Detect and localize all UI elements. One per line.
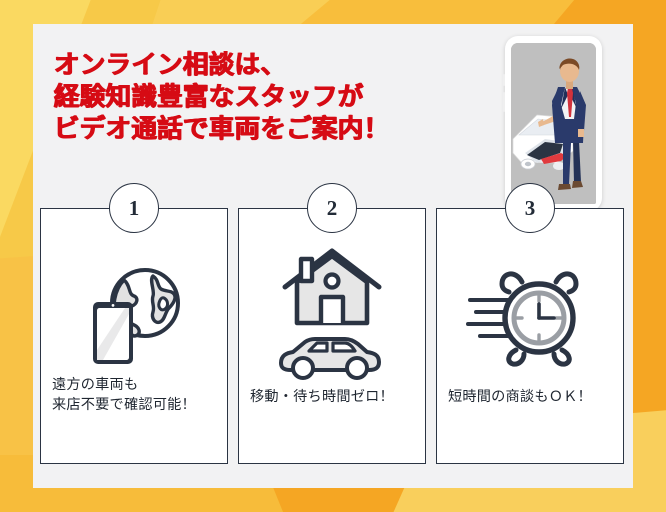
headline-line-1: オンライン相談は、 [54,49,494,81]
page-title: オンライン相談は、 経験知識豊富なスタッフが ビデオ通話で車両をご案内！ [54,49,494,145]
card-badge-number: 1 [109,183,159,233]
phone-power-button [503,92,505,112]
caption-line-1: 短時間の商談もＯＫ！ [448,387,615,407]
card-caption: 遠方の車両も 来店不要で確認可能！ [52,376,219,415]
card-badge-number: 3 [505,183,555,233]
alarm-clock-speed-icon [437,251,623,381]
card-caption: 短時間の商談もＯＫ！ [448,387,615,407]
salesman-with-car-illustration [511,43,596,204]
caption-line-2: 来店不要で確認可能！ [52,396,219,416]
car-icon [281,339,379,378]
feature-card-3: 3 [436,208,624,464]
house-car-icon [239,237,425,387]
feature-card-1: 1 遠方の車両も 来店不要で確認可能！ [40,208,228,464]
phone-volume-button [503,74,505,86]
phone-screen [511,43,596,204]
content-panel: オンライン相談は、 経験知識豊富なスタッフが ビデオ通話で車両をご案内！ [33,24,633,488]
globe-smartphone-icon [41,243,227,383]
promo-banner: オンライン相談は、 経験知識豊富なスタッフが ビデオ通話で車両をご案内！ [0,0,666,512]
card-badge-number: 2 [307,183,357,233]
headline-line-3: ビデオ通話で車両をご案内！ [54,113,494,145]
house-icon [285,251,379,323]
headline-line-2: 経験知識豊富なスタッフが [54,81,494,113]
card-caption: 移動・待ち時間ゼロ！ [250,387,417,407]
feature-card-2: 2 [238,208,426,464]
caption-line-1: 遠方の車両も [52,376,219,396]
caption-line-1: 移動・待ち時間ゼロ！ [250,387,417,407]
